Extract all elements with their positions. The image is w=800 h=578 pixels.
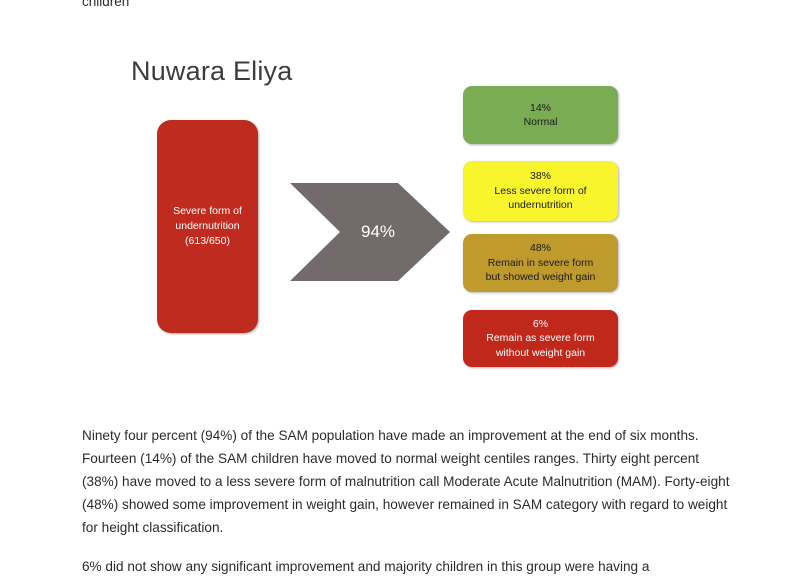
outcome-box-no-weight-gain: 6% Remain as severe form without weight … bbox=[463, 310, 618, 367]
outcome-box-normal-label: 14% Normal bbox=[519, 101, 563, 130]
outcome-box-weight-gain-label: 48% Remain in severe form but showed wei… bbox=[481, 241, 601, 285]
body-paragraph-2: 6% did not show any significant improvem… bbox=[82, 555, 730, 578]
chevron-arrow-icon bbox=[290, 183, 450, 281]
source-box-severe-undernutrition: Severe form of undernutrition (613/650) bbox=[157, 120, 258, 333]
outcome-box-less-severe-label: 38% Less severe form of undernutrition bbox=[489, 169, 591, 213]
outcome-box-no-weight-gain-label: 6% Remain as severe form without weight … bbox=[481, 317, 600, 361]
body-paragraph-1: Ninety four percent (94%) of the SAM pop… bbox=[82, 424, 730, 539]
figure-title: Nuwara Eliya bbox=[131, 54, 292, 88]
outcome-box-less-severe: 38% Less severe form of undernutrition bbox=[463, 161, 618, 221]
source-box-label: Severe form of undernutrition (613/650) bbox=[169, 204, 246, 249]
outcome-box-weight-gain: 48% Remain in severe form but showed wei… bbox=[463, 234, 618, 292]
flow-diagram-figure: Nuwara Eliya Severe form of undernutriti… bbox=[0, 0, 800, 410]
outcome-box-normal: 14% Normal bbox=[463, 86, 618, 144]
body-text: Ninety four percent (94%) of the SAM pop… bbox=[82, 424, 730, 578]
flow-arrow: 94% bbox=[290, 183, 450, 281]
